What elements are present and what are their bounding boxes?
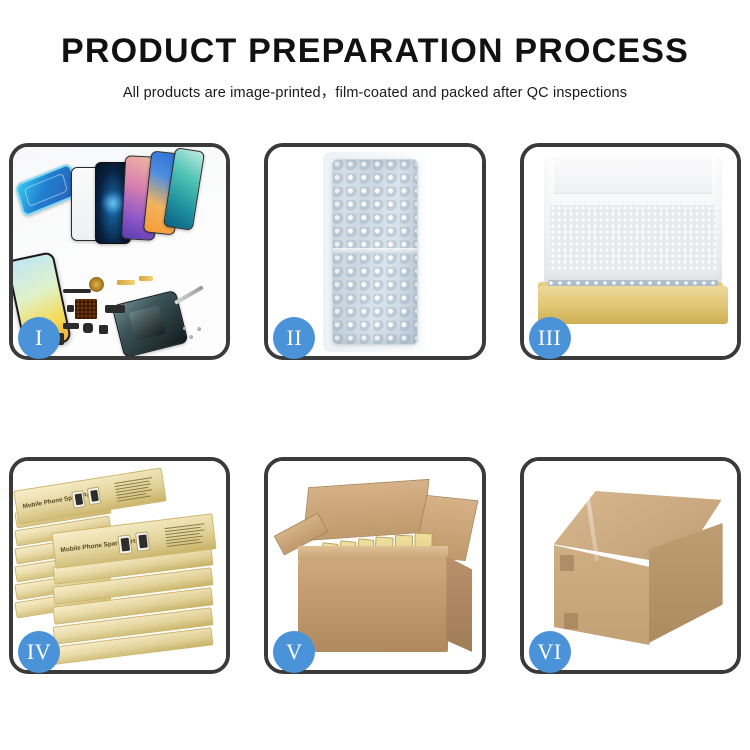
- screw-part: [197, 327, 201, 331]
- process-step-4: Mobile Phone Spare Parts: [9, 457, 230, 674]
- sim-tray-part: [63, 323, 79, 329]
- step-badge-1: I: [18, 317, 60, 359]
- step-badge-6: VI: [529, 631, 571, 673]
- header: PRODUCT PREPARATION PROCESS All products…: [0, 0, 750, 102]
- carton-handle-hole: [560, 555, 574, 571]
- screw-part: [183, 327, 186, 330]
- screw-part: [189, 335, 193, 339]
- connector-part: [139, 276, 153, 281]
- box-phone-graphic: [87, 487, 102, 506]
- process-step-6: VI: [520, 457, 741, 674]
- small-ic-part: [67, 305, 74, 312]
- process-step-1: I: [9, 143, 230, 360]
- bubble-wrapped-item: [332, 159, 418, 345]
- flex-cable-part: [117, 280, 135, 285]
- foam-padding: [550, 205, 716, 271]
- blue-adhesive-film: [14, 162, 79, 217]
- kraft-tray-base: [538, 286, 728, 324]
- step-badge-4: IV: [18, 631, 60, 673]
- process-step-5: V: [264, 457, 485, 674]
- antenna-strip-part: [63, 289, 91, 293]
- tweezers-tool: [174, 285, 204, 304]
- product-preparation-infographic: PRODUCT PREPARATION PROCESS All products…: [0, 0, 750, 750]
- process-step-grid: I II: [9, 143, 741, 680]
- vibration-motor-part: [89, 277, 104, 292]
- ic-chip-array: [75, 299, 97, 319]
- speaker-part: [83, 323, 93, 333]
- carton-front-face: [298, 560, 448, 652]
- box-phone-graphic: [135, 531, 150, 551]
- box-phone-graphic: [71, 490, 86, 509]
- carton-front-rim: [298, 546, 448, 560]
- carton-handle-hole: [564, 613, 578, 629]
- step-badge-3: III: [529, 317, 571, 359]
- camera-module-part: [105, 305, 125, 313]
- box-phone-graphic: [117, 534, 132, 554]
- process-step-3: III: [520, 143, 741, 360]
- button-part: [99, 325, 108, 334]
- page-title: PRODUCT PREPARATION PROCESS: [0, 34, 750, 70]
- process-step-2: II: [264, 143, 485, 360]
- page-subtitle: All products are image-printed，film-coat…: [0, 81, 750, 102]
- carton-side-face: [446, 556, 472, 652]
